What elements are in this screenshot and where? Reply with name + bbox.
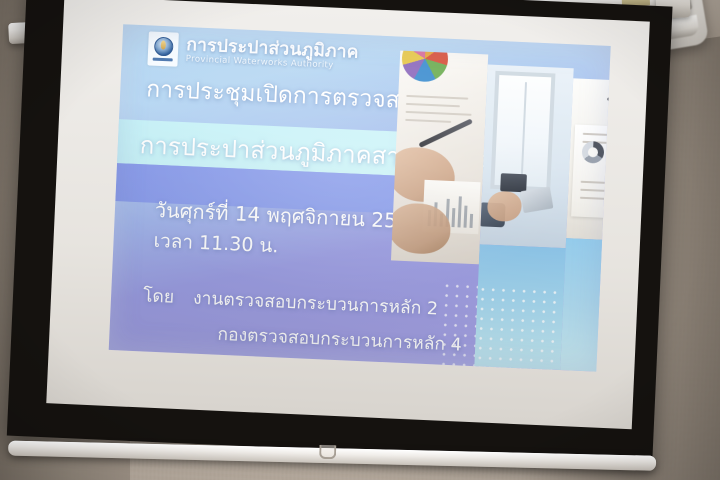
report-sheet-graphic [571,124,611,219]
presenter-label: โดย [143,281,175,310]
documents-with-pie-chart-photo [391,51,488,265]
pen-graphic-2 [607,96,611,133]
pwa-emblem-icon [147,31,178,66]
projector-screen-assembly: การประปาส่วนภูมิภาค Provincial Waterwork… [0,0,699,480]
meeting-time: เวลา 11.30 น. [153,226,279,262]
projector-screen-fabric: การประปาส่วนภูมิภาค Provincial Waterwork… [46,0,650,429]
slide-photo-collage [386,37,610,372]
hand-graphic-3 [487,191,522,222]
desk-device-graphic [500,173,527,192]
projector-screen-frame: การประปาส่วนภูมิภาค Provincial Waterwork… [7,0,673,464]
dot-grid-decoration-cyan [474,284,564,371]
tablet-graphic [520,186,553,213]
screen-pull-hook [319,445,336,459]
logo-text-block: การประปาส่วนภูมิภาค Provincial Waterwork… [186,37,359,71]
organization-logo: การประปาส่วนภูมิภาค Provincial Waterwork… [147,31,359,74]
office-window-desk-photo [480,64,574,248]
hands-writing-report-photo [566,78,611,243]
projected-slide: การประปาส่วนภูมิภาค Provincial Waterwork… [109,24,611,371]
pie-chart-graphic [401,51,449,83]
emblem-disc-icon [153,37,173,57]
pen-graphic [418,118,473,147]
color-block-2 [560,238,610,371]
emblem-base [153,58,173,62]
meeting-room-scene: การประปาส่วนภูมิภาค Provincial Waterwork… [0,0,720,480]
